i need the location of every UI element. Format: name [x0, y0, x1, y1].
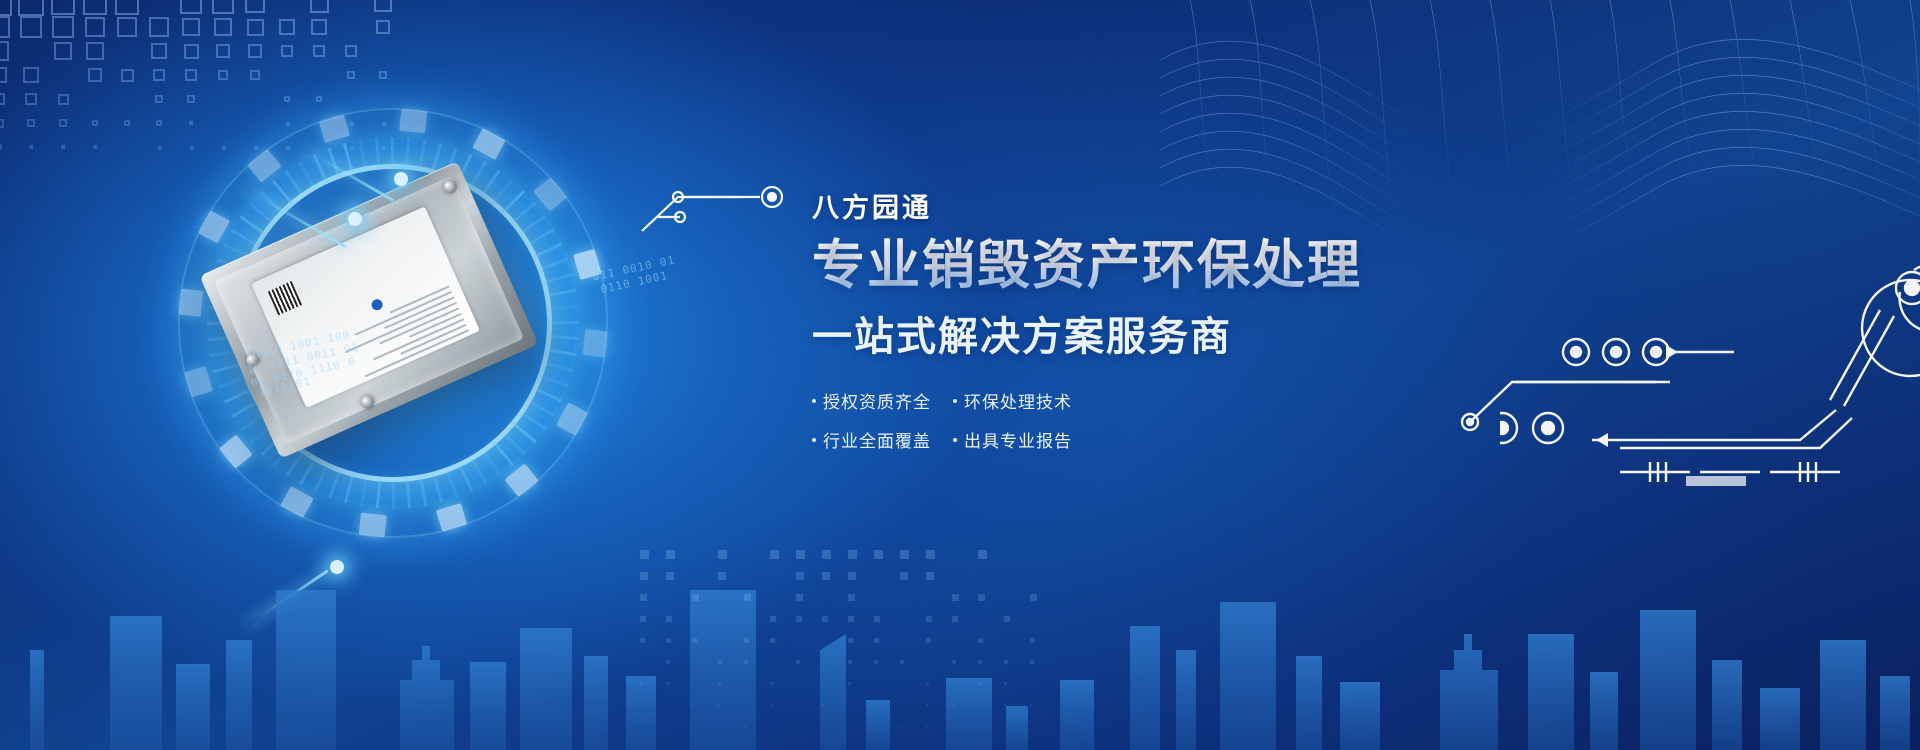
matrix-dot [692, 638, 697, 643]
pixel-square [313, 45, 325, 57]
pixel-square [51, 0, 76, 15]
pixel-square [121, 69, 134, 82]
pixel-square [347, 71, 355, 79]
matrix-dot [874, 704, 876, 706]
matrix-dot [796, 594, 803, 601]
matrix-dot [770, 550, 779, 559]
matrix-dot [848, 594, 855, 601]
matrix-dot [1030, 594, 1037, 601]
matrix-dot [874, 660, 878, 664]
pixel-square [158, 146, 162, 150]
matrix-dot [770, 616, 776, 622]
pixel-square [0, 16, 10, 39]
pixel-square [153, 69, 165, 81]
pixel-square [0, 93, 5, 105]
matrix-dot [978, 594, 985, 601]
matrix-dot [640, 550, 649, 559]
matrix-dot [666, 550, 675, 559]
matrix-dot [978, 638, 983, 643]
pixel-square [184, 44, 199, 59]
matrix-dot [770, 682, 773, 685]
matrix-dot [874, 638, 879, 643]
pixel-square [218, 70, 229, 81]
matrix-dot [952, 616, 958, 622]
matrix-dot [718, 682, 721, 685]
pixel-square [374, 0, 392, 12]
matrix-dot [848, 682, 851, 685]
pixel-square [61, 145, 65, 149]
matrix-dot [952, 594, 959, 601]
matrix-dot [926, 616, 932, 622]
light-beam-node [348, 212, 362, 226]
brand-name: 八方园通 [812, 186, 1432, 225]
circuit-board-decoration-lower [1460, 330, 1760, 470]
matrix-dot [1004, 704, 1006, 706]
matrix-dot [874, 550, 883, 559]
feature-bullet-row: 授权资质齐全环保处理技术 [812, 388, 1112, 413]
pixel-square [18, 0, 43, 16]
matrix-dot [926, 572, 934, 580]
matrix-dot [718, 572, 726, 580]
matrix-dot [666, 616, 672, 622]
pixel-square [281, 45, 294, 58]
matrix-dot [1030, 704, 1032, 706]
pixel-square [83, 0, 107, 15]
pixel-square [250, 70, 260, 80]
bullet-dot-icon [953, 438, 957, 442]
pixel-square [117, 17, 137, 37]
matrix-dot [1004, 616, 1010, 622]
matrix-dot [718, 660, 722, 664]
pixel-square [245, 0, 265, 13]
pixel-square [58, 94, 69, 105]
matrix-dot [666, 572, 674, 580]
matrix-dot [796, 660, 800, 664]
pixel-square [345, 45, 357, 57]
subheadline: 一站式解决方案服务商 [812, 304, 1432, 362]
pixel-square [247, 19, 264, 36]
feature-bullet-list: 授权资质齐全环保处理技术行业全面覆盖出具专业报告 [812, 388, 1112, 452]
pixel-square [248, 44, 262, 58]
matrix-dot [848, 638, 853, 643]
feature-bullet-label: 授权资质齐全 [823, 388, 931, 413]
matrix-dot [744, 594, 751, 601]
pixel-square [279, 19, 295, 35]
pixel-square [182, 18, 200, 36]
matrix-dot [848, 660, 852, 664]
matrix-dot [640, 616, 646, 622]
pixel-square [0, 119, 4, 128]
feature-bullet-label: 环保处理技术 [964, 388, 1072, 413]
matrix-dot [770, 726, 772, 728]
matrix-dot [848, 616, 854, 622]
bullet-dot-icon [812, 399, 816, 403]
feature-bullet-item: 出具专业报告 [953, 427, 1072, 452]
matrix-dot [848, 572, 856, 580]
matrix-dot [952, 660, 956, 664]
pixel-square [0, 41, 9, 60]
matrix-dot [692, 594, 699, 601]
pixel-square [149, 17, 168, 36]
feature-bullet-item: 行业全面覆盖 [812, 427, 931, 452]
matrix-dot [640, 682, 643, 685]
matrix-dot [796, 572, 804, 580]
pixel-square [54, 42, 72, 60]
matrix-dot [692, 704, 694, 706]
pixel-square [27, 119, 35, 127]
feature-bullet-item: 授权资质齐全 [812, 388, 931, 413]
matrix-dot [978, 550, 987, 559]
connector-line [640, 175, 820, 235]
promo-banner: 0110 1001 100 10 1011 0011 01 01 0110 11… [0, 0, 1920, 750]
matrix-dot [822, 704, 824, 706]
pixel-square [310, 0, 329, 13]
feature-bullet-label: 出具专业报告 [964, 427, 1072, 452]
banner-text-block: 八方园通 专业销毁资产环保处理 一站式解决方案服务商 授权资质齐全环保处理技术行… [812, 186, 1432, 466]
light-beam-node [394, 172, 408, 186]
matrix-dot [640, 638, 645, 643]
matrix-dot [718, 550, 727, 559]
pixel-square [92, 120, 99, 127]
matrix-dot [952, 704, 954, 706]
matrix-dot [978, 682, 981, 685]
pixel-square [85, 17, 106, 38]
pixel-square [216, 44, 230, 58]
matrix-dot [640, 572, 648, 580]
headline: 专业销毁资产环保处理 [812, 237, 1432, 294]
matrix-dot [666, 660, 670, 664]
matrix-dot [1004, 682, 1007, 685]
matrix-dot [926, 726, 928, 728]
pixel-square [29, 145, 34, 150]
matrix-dot [900, 726, 902, 728]
matrix-dot [770, 638, 775, 643]
matrix-dot [822, 550, 831, 559]
pixel-square [115, 0, 138, 15]
matrix-dot [640, 594, 647, 601]
matrix-dot [666, 638, 671, 643]
matrix-dot [926, 638, 931, 643]
matrix-dot [978, 726, 980, 728]
dot-matrix-decoration [640, 550, 1060, 750]
matrix-dot [718, 704, 720, 706]
bullet-dot-icon [812, 438, 816, 442]
feature-bullet-item: 环保处理技术 [953, 388, 1072, 413]
matrix-dot [1004, 660, 1008, 664]
matrix-dot [666, 682, 669, 685]
matrix-dot [1030, 638, 1035, 643]
feature-bullet-row: 行业全面覆盖出具专业报告 [812, 427, 1112, 452]
pixel-square [214, 18, 232, 36]
matrix-dot [796, 616, 802, 622]
pixel-square [0, 144, 2, 150]
feature-bullet-label: 行业全面覆盖 [823, 427, 931, 452]
pixel-square [376, 20, 390, 34]
pixel-square [212, 0, 233, 14]
matrix-dot [744, 726, 746, 728]
matrix-dot [900, 660, 904, 664]
matrix-dot [848, 550, 857, 559]
pixel-square [379, 71, 386, 78]
pixel-square [0, 0, 12, 16]
pixel-square [156, 120, 162, 126]
bullet-dot-icon [953, 399, 957, 403]
pixel-square [93, 145, 97, 149]
pixel-square [88, 68, 102, 82]
matrix-dot [822, 616, 828, 622]
pixel-square [52, 16, 73, 37]
pixel-square [185, 69, 197, 81]
pixel-square [0, 67, 7, 83]
matrix-dot [770, 704, 772, 706]
matrix-dot [796, 550, 805, 559]
matrix-dot [926, 704, 928, 706]
matrix-dot [926, 682, 929, 685]
pixel-square [124, 120, 130, 126]
matrix-dot [744, 660, 748, 664]
pixel-square [155, 95, 164, 104]
matrix-dot [900, 550, 909, 559]
matrix-dot [978, 660, 982, 664]
pixel-square [151, 43, 167, 59]
pixel-square [23, 67, 38, 82]
pixel-square [20, 16, 42, 38]
matrix-dot [926, 550, 935, 559]
pixel-square [86, 42, 103, 59]
matrix-dot [822, 572, 830, 580]
pixel-square [180, 0, 202, 14]
matrix-dot [874, 616, 880, 622]
pixel-square [25, 93, 37, 105]
matrix-dot [744, 638, 749, 643]
pixel-square [311, 19, 327, 35]
pixel-square [59, 119, 67, 127]
matrix-dot [1030, 660, 1034, 664]
matrix-dot [900, 572, 908, 580]
